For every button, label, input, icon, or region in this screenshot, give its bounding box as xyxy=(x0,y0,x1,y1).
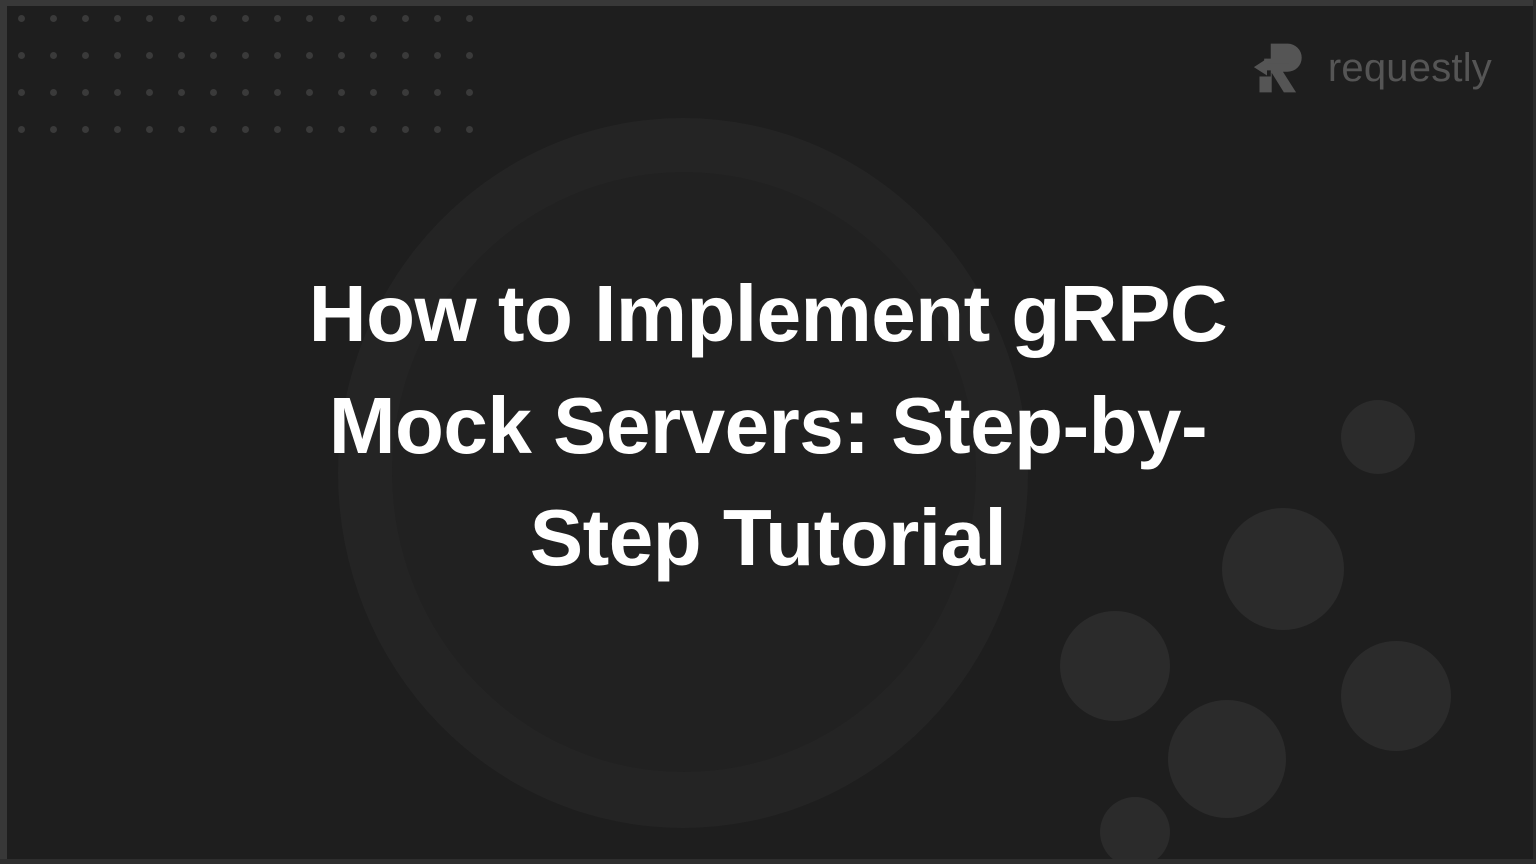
grid-dot xyxy=(370,52,377,59)
grid-dot xyxy=(114,52,121,59)
grid-dot xyxy=(18,126,25,133)
grid-dot xyxy=(242,52,249,59)
blog-cover-card: requestly How to Implement gRPC Mock Ser… xyxy=(0,0,1536,864)
grid-dot xyxy=(178,126,185,133)
grid-dot xyxy=(434,52,441,59)
grid-dot xyxy=(50,89,57,96)
grid-dot xyxy=(82,52,89,59)
grid-dot xyxy=(274,126,281,133)
grid-dot xyxy=(146,52,153,59)
grid-dot xyxy=(50,15,57,22)
grid-dot xyxy=(146,89,153,96)
brand-lockup[interactable]: requestly xyxy=(1252,38,1492,98)
grid-dot xyxy=(338,15,345,22)
grid-dot xyxy=(274,15,281,22)
grid-dot xyxy=(210,52,217,59)
grid-dot xyxy=(306,52,313,59)
grid-dot xyxy=(434,89,441,96)
grid-dot xyxy=(146,126,153,133)
grid-dot xyxy=(466,52,473,59)
grid-dot xyxy=(146,15,153,22)
grid-dot xyxy=(434,15,441,22)
grid-dot xyxy=(18,15,25,22)
decorative-circle xyxy=(1341,400,1415,474)
grid-dot xyxy=(178,89,185,96)
requestly-r-arrow-icon xyxy=(1252,38,1312,98)
brand-wordmark: requestly xyxy=(1328,48,1492,88)
decorative-circle xyxy=(1060,611,1170,721)
grid-dot xyxy=(402,52,409,59)
grid-dot xyxy=(18,89,25,96)
grid-dot xyxy=(82,89,89,96)
grid-dot xyxy=(210,15,217,22)
frame-edge-top xyxy=(0,0,1536,6)
decorative-circle xyxy=(1168,700,1286,818)
decorative-circle xyxy=(1341,641,1451,751)
grid-dot xyxy=(306,15,313,22)
grid-dot xyxy=(114,89,121,96)
grid-dot xyxy=(210,89,217,96)
grid-dot xyxy=(370,126,377,133)
grid-dot xyxy=(242,15,249,22)
decorative-circle xyxy=(1100,797,1170,864)
grid-dot xyxy=(274,52,281,59)
grid-dot xyxy=(114,126,121,133)
frame-edge-left xyxy=(0,0,7,864)
grid-dot xyxy=(178,52,185,59)
grid-dot xyxy=(210,126,217,133)
frame-edge-bottom xyxy=(0,859,1536,864)
grid-dot xyxy=(50,52,57,59)
grid-dot xyxy=(402,15,409,22)
grid-dot xyxy=(114,15,121,22)
grid-dot xyxy=(466,89,473,96)
grid-dot xyxy=(466,126,473,133)
grid-dot xyxy=(242,89,249,96)
grid-dot xyxy=(370,89,377,96)
page-title: How to Implement gRPC Mock Servers: Step… xyxy=(263,258,1273,606)
grid-dot xyxy=(338,126,345,133)
grid-dot xyxy=(306,89,313,96)
grid-dot xyxy=(82,126,89,133)
dot-grid-pattern-icon xyxy=(14,11,490,147)
grid-dot xyxy=(18,52,25,59)
grid-dot xyxy=(434,126,441,133)
grid-dot xyxy=(338,89,345,96)
grid-dot xyxy=(274,89,281,96)
grid-dot xyxy=(466,15,473,22)
grid-dot xyxy=(306,126,313,133)
grid-dot xyxy=(178,15,185,22)
grid-dot xyxy=(50,126,57,133)
grid-dot xyxy=(402,126,409,133)
grid-dot xyxy=(338,52,345,59)
grid-dot xyxy=(242,126,249,133)
grid-dot xyxy=(402,89,409,96)
grid-dot xyxy=(82,15,89,22)
grid-dot xyxy=(370,15,377,22)
